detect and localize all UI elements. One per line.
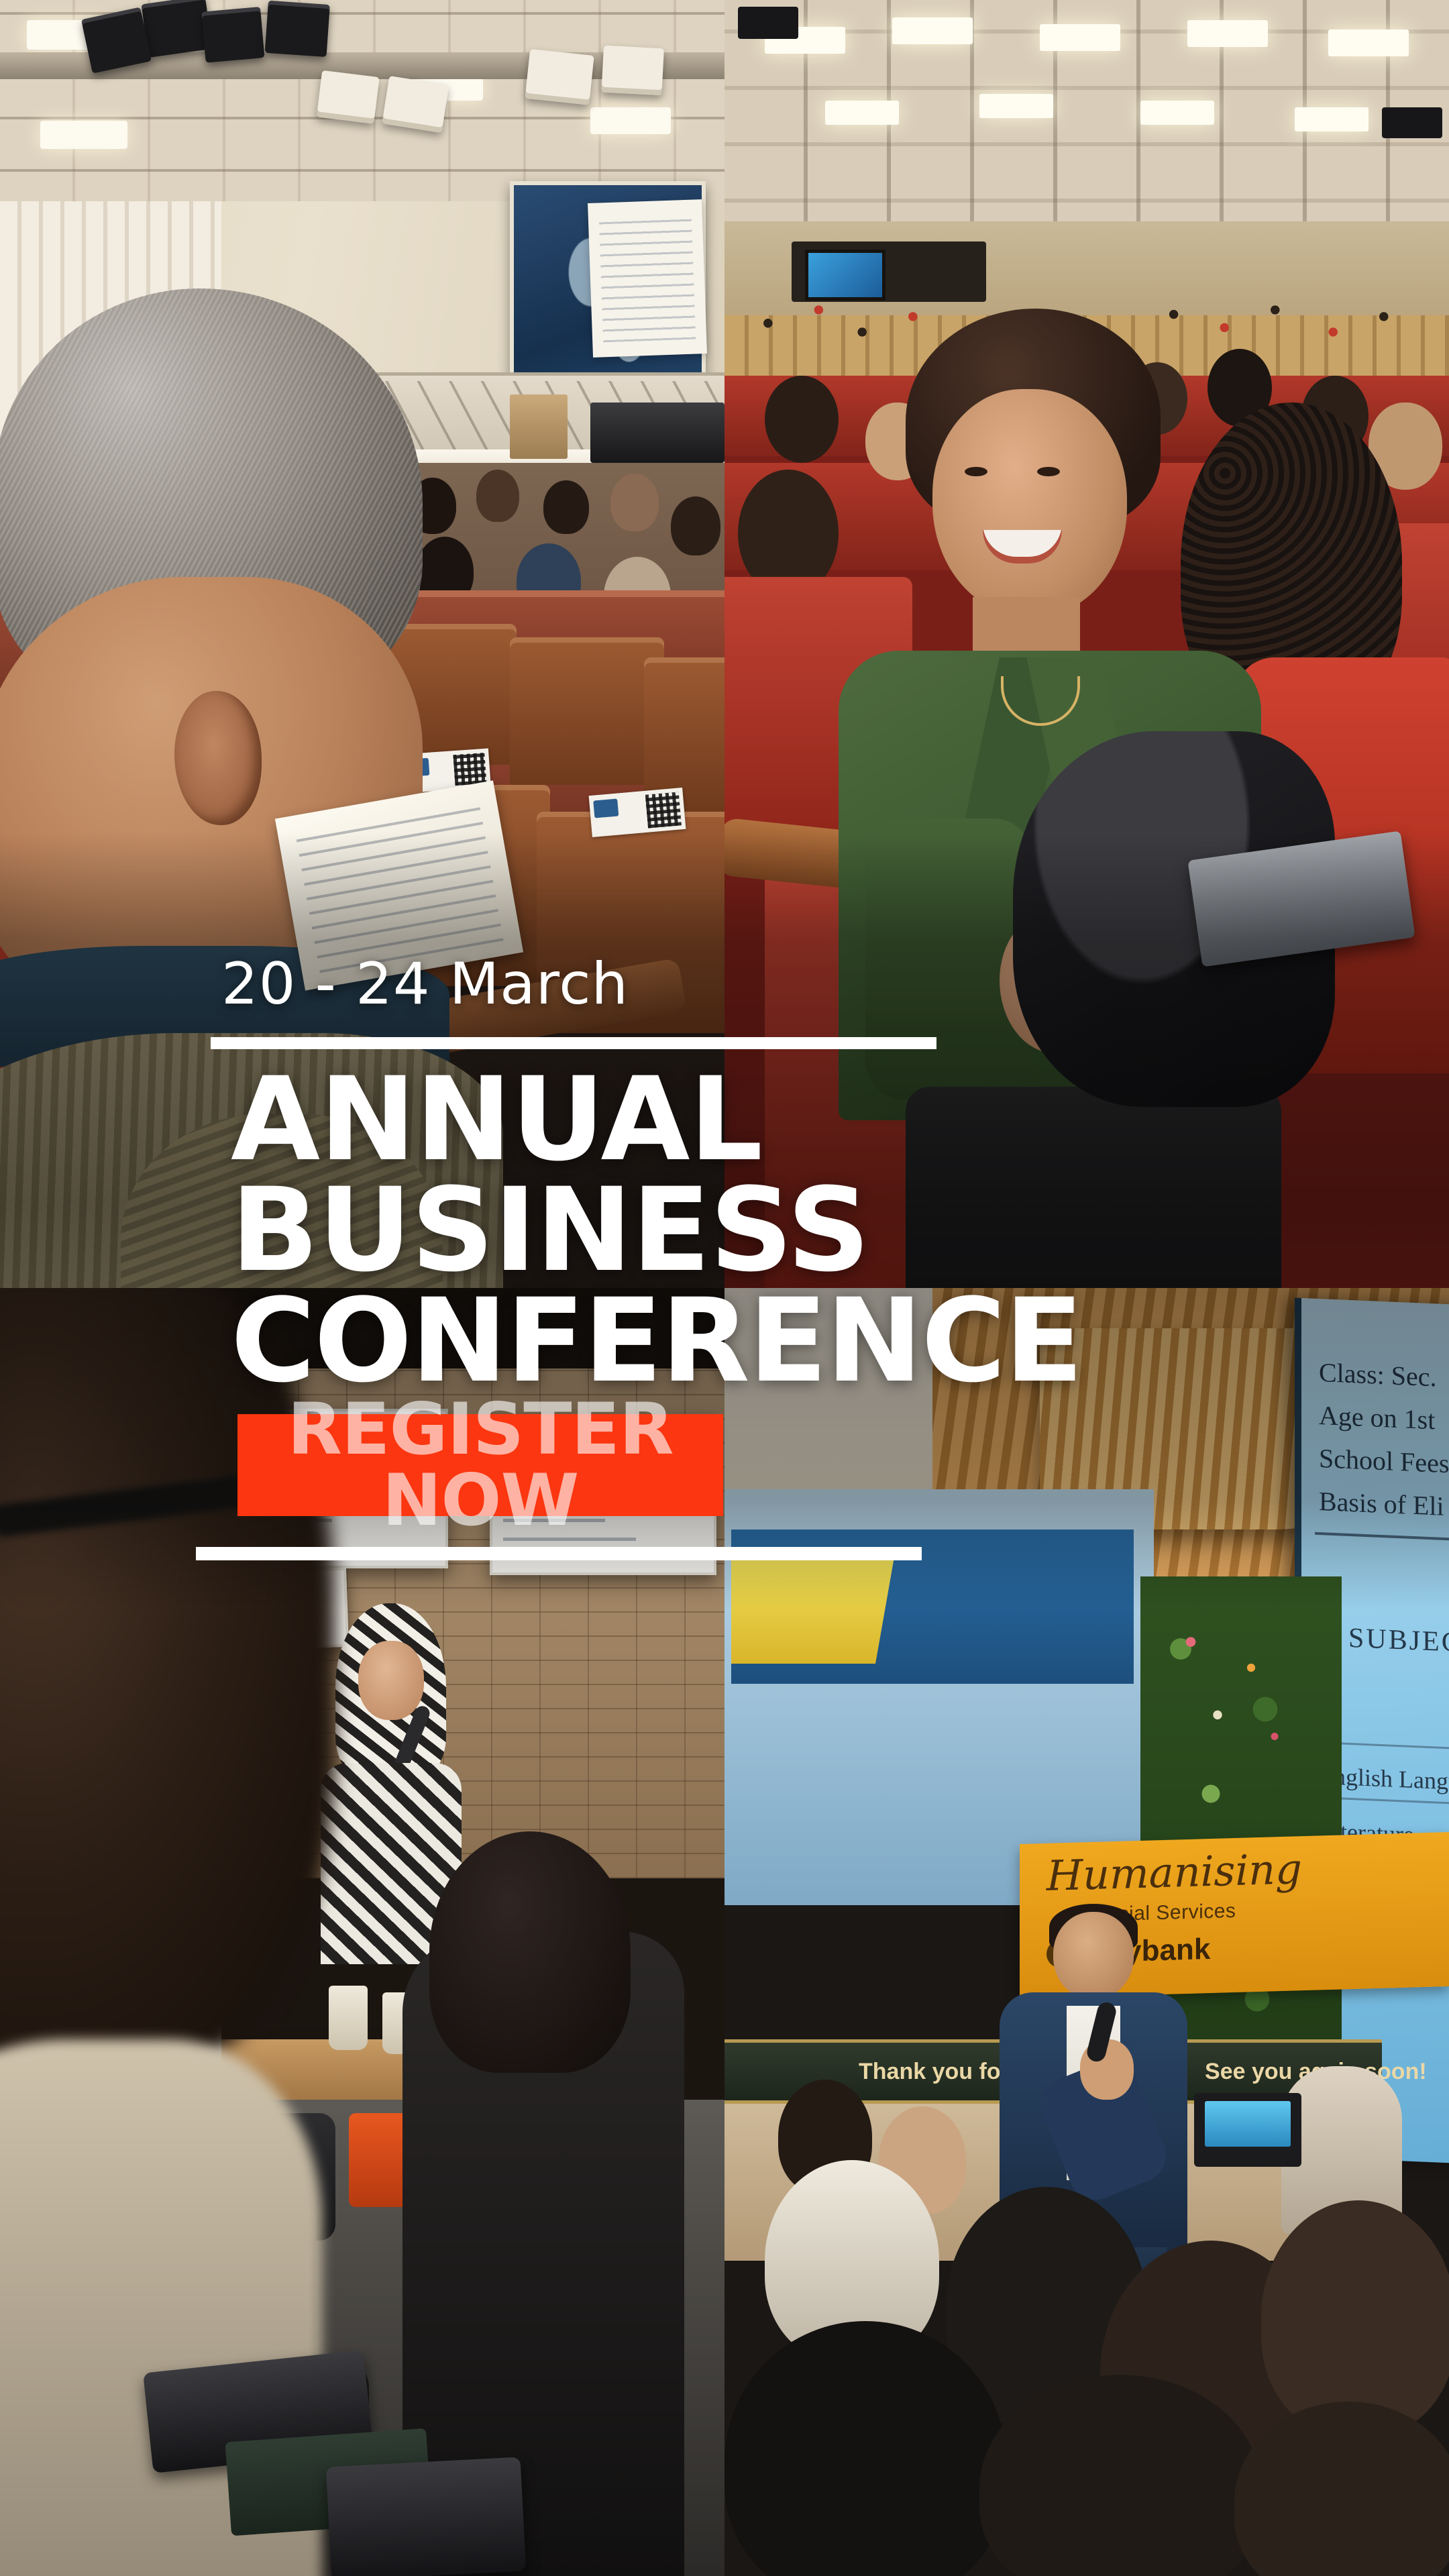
ceiling-light — [40, 121, 127, 149]
audience-head — [765, 376, 839, 463]
stage-light-fixture — [738, 7, 798, 39]
register-now-button[interactable]: REGISTER NOW — [237, 1414, 723, 1516]
stage-light-fixture — [382, 76, 449, 133]
ceiling-light — [1328, 30, 1409, 56]
title-line-3: CONFERENCE — [231, 1285, 1371, 1396]
table-devices — [161, 2334, 496, 2576]
wall-poster — [588, 199, 707, 358]
slide-row: School Fees — [1319, 1442, 1449, 1480]
audience-head — [543, 480, 589, 534]
woman-face — [932, 389, 1127, 617]
stage-light-fixture — [525, 49, 594, 105]
photo-mall-atrium-event-talk: Class: Sec. Age on 1st School Fees Basis… — [724, 1288, 1449, 2576]
title-line-2: BUSINESS — [231, 1175, 1371, 1285]
wall-flowers — [1154, 1603, 1322, 1818]
audience-head — [610, 474, 659, 531]
stage-light-fixture — [317, 70, 380, 124]
presenter-face — [358, 1641, 424, 1720]
stage-light-fixture — [265, 1, 330, 57]
divider-rule-bottom — [196, 1547, 922, 1560]
woman-eye — [965, 467, 987, 476]
slide-row: SUBJEC — [1348, 1622, 1449, 1659]
av-desk — [590, 402, 724, 463]
stage-light-fixture — [1382, 107, 1442, 138]
auditorium-chair — [510, 637, 664, 785]
audience-head — [476, 470, 519, 522]
stage-light-fixture — [601, 46, 664, 96]
page-title: ANNUAL BUSINESS CONFERENCE — [231, 1064, 1371, 1396]
audience-head — [1261, 2200, 1449, 2435]
ceiling-light — [1040, 24, 1120, 51]
slide-row: Basis of Eli — [1319, 1485, 1449, 1523]
conference-poster: Class: Sec. Age on 1st School Fees Basis… — [0, 0, 1449, 2576]
stage-light-fixture — [201, 7, 264, 62]
woman-eye — [1037, 467, 1060, 476]
title-line-1: ANNUAL — [231, 1064, 1371, 1175]
ceiling-light — [979, 94, 1053, 118]
slide-row: Age on 1st — [1319, 1399, 1449, 1437]
ceiling-light — [1295, 107, 1368, 131]
ceiling-light — [825, 101, 899, 125]
ceiling-light — [1187, 20, 1268, 47]
audience-head — [671, 496, 720, 555]
signage-tagline: Humanising — [1046, 1845, 1436, 1897]
mall-audience — [724, 2120, 1449, 2576]
event-date: 20 - 24 March — [221, 955, 629, 1013]
attendee-hair — [429, 1831, 631, 2073]
ceiling-light — [1140, 101, 1214, 125]
speaker-face — [1053, 1912, 1134, 1999]
stage-light-fixture — [141, 0, 212, 58]
ceiling-light — [892, 17, 973, 44]
seat-qr-card — [589, 788, 686, 837]
auditorium-chair — [644, 657, 724, 812]
register-now-label: REGISTER NOW — [237, 1394, 723, 1536]
divider-rule-top — [211, 1037, 936, 1049]
tablet-device — [326, 2457, 526, 2576]
lectern — [510, 394, 568, 459]
ceiling-light — [590, 107, 671, 134]
